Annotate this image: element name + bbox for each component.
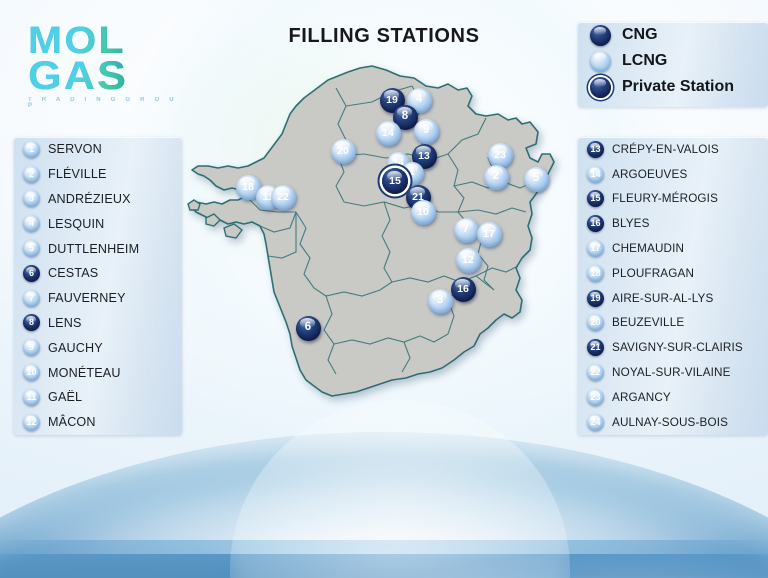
station-list-item[interactable]: 7FAUVERNEY — [14, 286, 182, 311]
station-name-label: GAUCHY — [48, 341, 103, 355]
map-station-marker[interactable]: 12 — [456, 248, 481, 273]
station-name-label: AULNAY-SOUS-BOIS — [612, 416, 728, 429]
station-number-badge-icon: 4 — [23, 215, 40, 232]
map-station-marker[interactable]: 9 — [414, 119, 439, 144]
station-number-badge-icon: 9 — [23, 339, 40, 356]
station-list-item[interactable]: 16BLYES — [578, 211, 768, 236]
legend-panel: CNGLCNGPrivate Station — [578, 22, 768, 107]
circle-marker-ring-icon — [590, 77, 611, 98]
station-list-item[interactable]: 22NOYAL-SUR-VILAINE — [578, 360, 768, 385]
station-number-badge-icon: 18 — [587, 265, 604, 282]
station-number-badge-icon: 2 — [23, 166, 40, 183]
station-list-item[interactable]: 5DUTTLENHEIM — [14, 236, 182, 261]
station-list-item[interactable]: 4LESQUIN — [14, 211, 182, 236]
station-name-label: CHEMAUDIN — [612, 242, 684, 255]
station-name-label: ARGANCY — [612, 391, 671, 404]
legend-item[interactable]: Private Station — [578, 74, 768, 100]
earth-graphic — [0, 432, 768, 578]
station-list-item[interactable]: 24AULNAY-SOUS-BOIS — [578, 410, 768, 435]
station-number-badge-icon: 10 — [23, 364, 40, 381]
station-list-item[interactable]: 1SERVON — [14, 137, 182, 162]
station-list-item[interactable]: 6CESTAS — [14, 261, 182, 286]
station-name-label: CRÉPY-EN-VALOIS — [612, 143, 719, 156]
map-station-marker[interactable]: 15 — [382, 168, 408, 194]
legend-label: CNG — [622, 26, 658, 44]
page-background: FILLING STATIONS MOL GAS T R A D I N G G… — [0, 0, 768, 578]
station-list-right: 13CRÉPY-EN-VALOIS14ARGOEUVES15FLEURY-MÉR… — [578, 137, 768, 435]
station-number-badge-icon: 23 — [587, 389, 604, 406]
station-number-badge-icon: 6 — [23, 265, 40, 282]
logo: MOL GAS T R A D I N G G R O U P — [28, 22, 178, 106]
station-number-badge-icon: 12 — [23, 414, 40, 431]
station-number-badge-icon: 19 — [587, 290, 604, 307]
station-list-left: 1SERVON2FLÉVILLE3ANDRÉZIEUX4LESQUIN5DUTT… — [14, 137, 182, 435]
legend-label: Private Station — [622, 78, 734, 96]
station-name-label: SERVON — [48, 142, 102, 156]
station-number-badge-icon: 16 — [587, 215, 604, 232]
station-list-item[interactable]: 3ANDRÉZIEUX — [14, 187, 182, 212]
station-name-label: MÂCON — [48, 415, 96, 429]
station-list-item[interactable]: 20BEUZEVILLE — [578, 311, 768, 336]
map-station-marker[interactable]: 23 — [488, 143, 513, 168]
earth-sphere — [0, 432, 768, 578]
station-list-item[interactable]: 23ARGANCY — [578, 385, 768, 410]
france-map: 194814920132324125181511222110717121636 — [186, 62, 582, 420]
map-station-marker[interactable]: 17 — [477, 222, 502, 247]
map-station-marker[interactable]: 6 — [296, 316, 321, 341]
station-number-badge-icon: 5 — [23, 240, 40, 257]
station-name-label: MONÉTEAU — [48, 366, 121, 380]
station-number-badge-icon: 8 — [23, 314, 40, 331]
station-number-badge-icon: 13 — [587, 141, 604, 158]
station-number-badge-icon: 7 — [23, 290, 40, 307]
station-number-badge-icon: 3 — [23, 190, 40, 207]
france-map-svg — [186, 62, 582, 420]
station-name-label: BEUZEVILLE — [612, 316, 684, 329]
station-name-label: LESQUIN — [48, 217, 104, 231]
map-station-marker[interactable]: 3 — [428, 289, 453, 314]
station-number-badge-icon: 22 — [587, 364, 604, 381]
station-number-badge-icon: 1 — [23, 141, 40, 158]
station-list-item[interactable]: 10MONÉTEAU — [14, 360, 182, 385]
legend-item[interactable]: LCNG — [578, 48, 768, 74]
station-name-label: FLEURY-MÉROGIS — [612, 192, 718, 205]
map-station-marker[interactable]: 14 — [376, 121, 401, 146]
logo-tagline: T R A D I N G G R O U P — [28, 97, 178, 109]
map-station-marker[interactable]: 2 — [484, 165, 509, 190]
station-number-badge-icon: 21 — [587, 339, 604, 356]
station-name-label: ANDRÉZIEUX — [48, 192, 131, 206]
circle-marker-icon — [590, 51, 611, 72]
station-list-item[interactable]: 12MÂCON — [14, 410, 182, 435]
circle-marker-icon — [590, 25, 611, 46]
station-name-label: FAUVERNEY — [48, 291, 126, 305]
station-name-label: SAVIGNY-SUR-CLAIRIS — [612, 341, 743, 354]
station-list-item[interactable]: 17CHEMAUDIN — [578, 236, 768, 261]
station-name-label: ARGOEUVES — [612, 168, 687, 181]
station-number-badge-icon: 17 — [587, 240, 604, 257]
map-station-marker[interactable]: 20 — [331, 139, 356, 164]
station-list-item[interactable]: 18PLOUFRAGAN — [578, 261, 768, 286]
station-list-item[interactable]: 19AIRE-SUR-AL-LYS — [578, 286, 768, 311]
station-name-label: FLÉVILLE — [48, 167, 107, 181]
station-number-badge-icon: 15 — [587, 190, 604, 207]
map-station-marker[interactable]: 5 — [524, 167, 549, 192]
station-number-badge-icon: 24 — [587, 414, 604, 431]
station-list-item[interactable]: 11GAËL — [14, 385, 182, 410]
station-number-badge-icon: 20 — [587, 314, 604, 331]
station-list-item[interactable]: 15FLEURY-MÉROGIS — [578, 187, 768, 212]
station-name-label: LENS — [48, 316, 82, 330]
station-list-item[interactable]: 2FLÉVILLE — [14, 162, 182, 187]
station-list-item[interactable]: 9GAUCHY — [14, 335, 182, 360]
station-name-label: BLYES — [612, 217, 650, 230]
legend-item[interactable]: CNG — [578, 22, 768, 48]
map-station-marker[interactable]: 16 — [451, 277, 476, 302]
map-station-marker[interactable]: 22 — [271, 185, 296, 210]
station-name-label: GAËL — [48, 390, 82, 404]
station-name-label: AIRE-SUR-AL-LYS — [612, 292, 713, 305]
map-station-marker[interactable]: 10 — [411, 200, 436, 225]
station-list-item[interactable]: 14ARGOEUVES — [578, 162, 768, 187]
station-list-item[interactable]: 8LENS — [14, 311, 182, 336]
station-name-label: CESTAS — [48, 266, 98, 280]
station-name-label: NOYAL-SUR-VILAINE — [612, 366, 731, 379]
station-name-label: DUTTLENHEIM — [48, 242, 139, 256]
station-number-badge-icon: 14 — [587, 166, 604, 183]
station-number-badge-icon: 11 — [23, 389, 40, 406]
station-name-label: PLOUFRAGAN — [612, 267, 694, 280]
station-list-item[interactable]: 13CRÉPY-EN-VALOIS — [578, 137, 768, 162]
logo-text-gas: GAS — [28, 56, 190, 96]
map-station-marker[interactable]: 7 — [454, 218, 479, 243]
station-list-item[interactable]: 21SAVIGNY-SUR-CLAIRIS — [578, 335, 768, 360]
legend-label: LCNG — [622, 52, 667, 70]
